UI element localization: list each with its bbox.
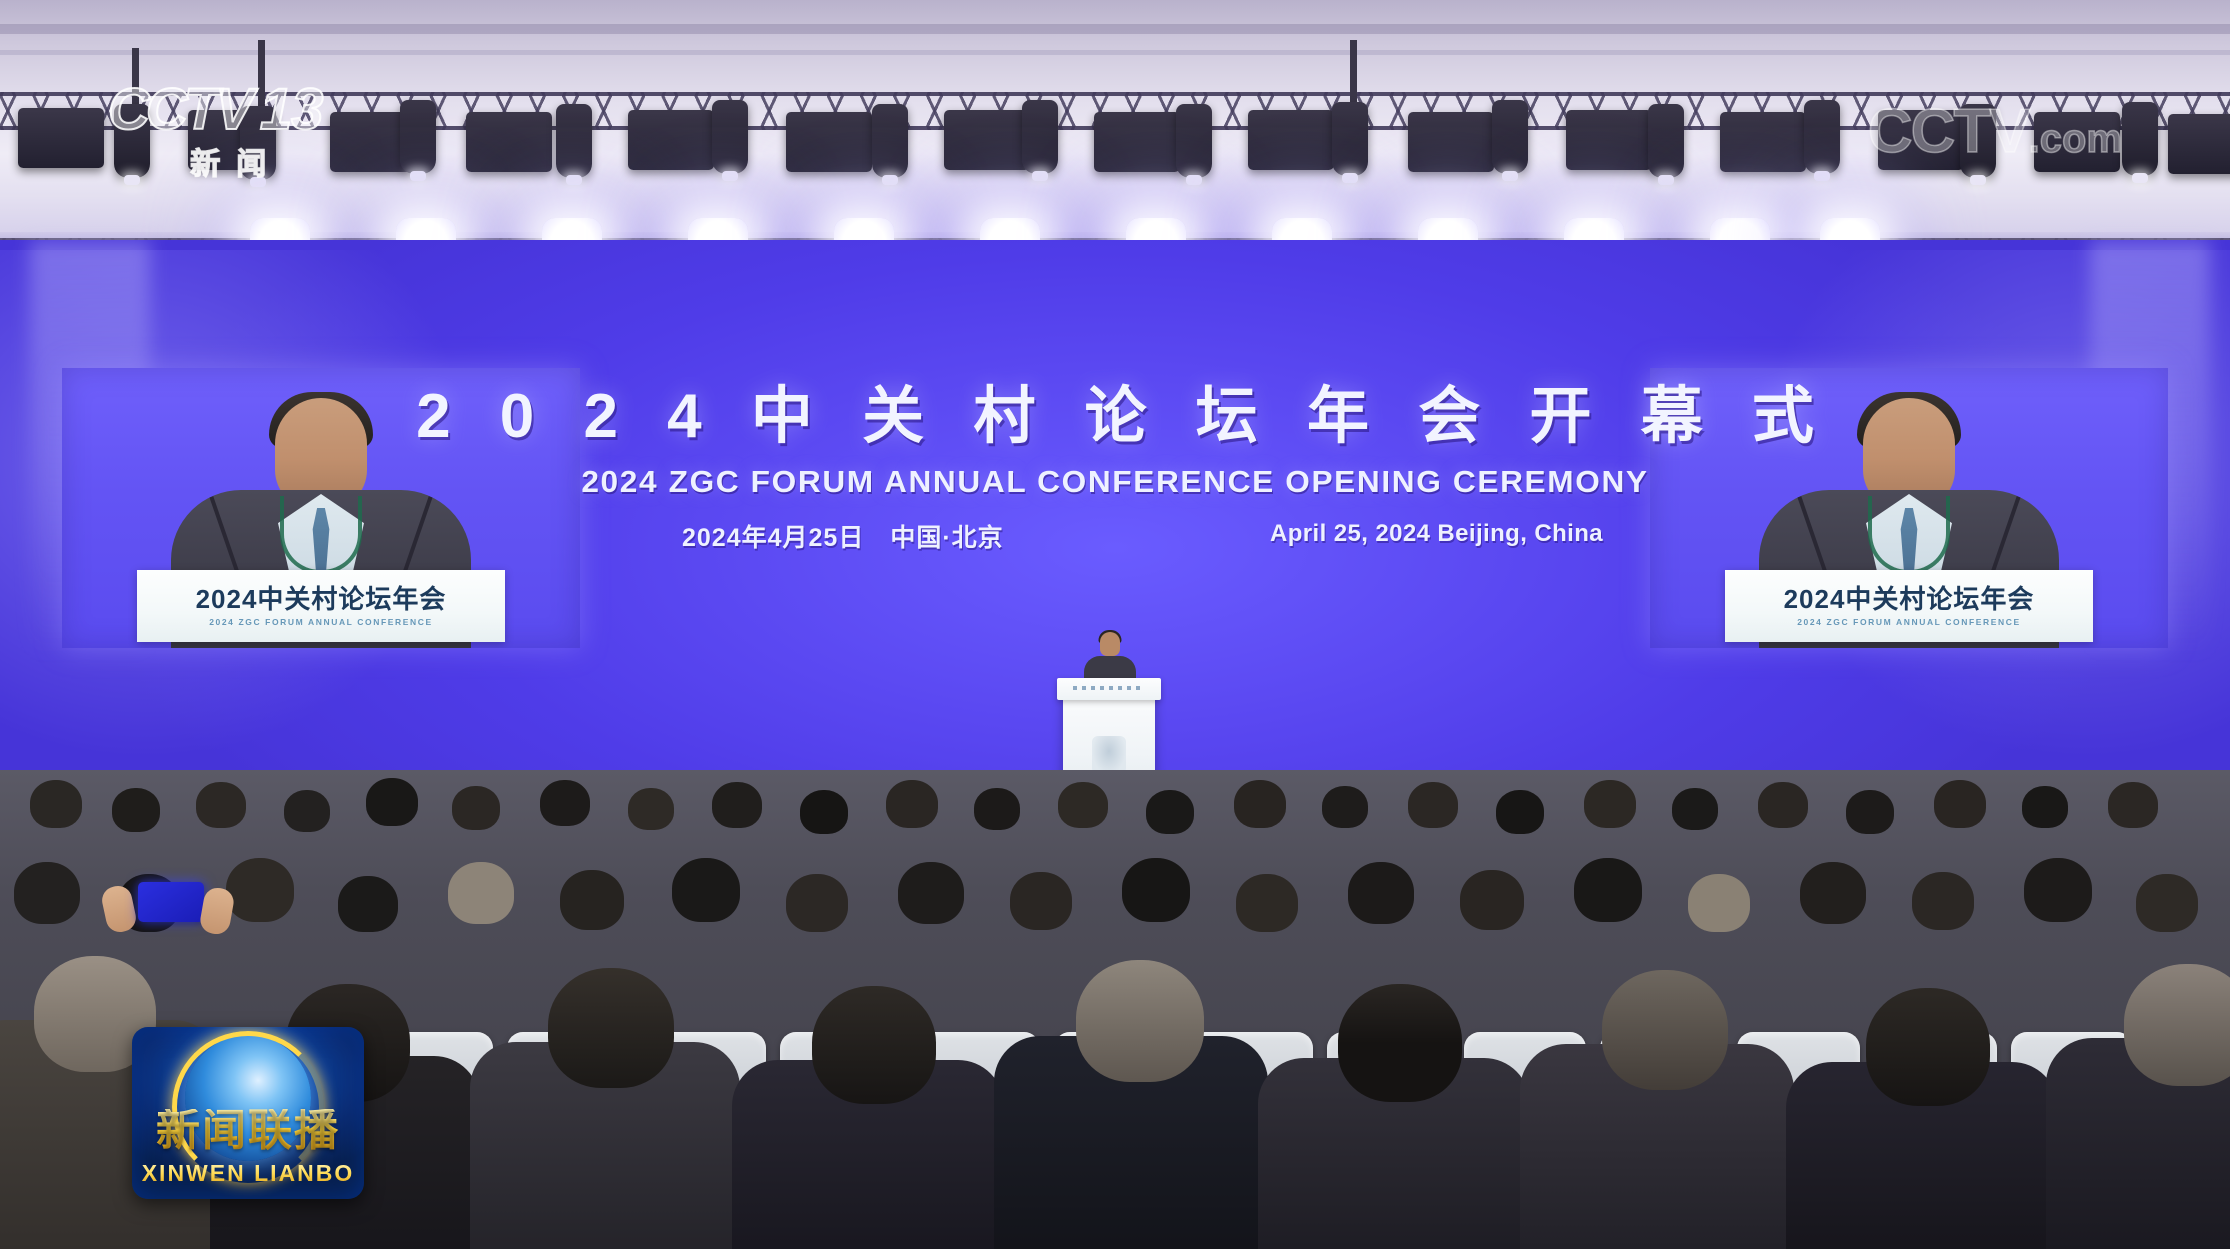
ceiling-stripe (0, 50, 2230, 55)
audience-head (448, 862, 514, 924)
audience-head (672, 858, 740, 922)
stage-light-fixture (1176, 104, 1212, 178)
podium-sign-en-text: 2024 ZGC FORUM ANNUAL CONFERENCE (209, 617, 433, 627)
channel-name-cn: 新闻 (108, 139, 322, 183)
audience-head (1496, 790, 1544, 834)
audience-head (2108, 782, 2158, 828)
stage-light-fixture (712, 100, 748, 174)
audience-head (1010, 872, 1072, 930)
audience-head (1672, 788, 1718, 830)
audience-head (540, 780, 590, 826)
channel-logo-cctv13: CCTV 13 新闻 (108, 82, 322, 183)
program-bug-xinwen-lianbo: 新闻联播 XINWEN LIANBO (132, 1027, 364, 1199)
audience-head (800, 790, 848, 834)
event-date-cn: 2024年4月25日 中国·北京 (682, 518, 1004, 554)
stage-light-fixture (944, 110, 1030, 170)
audience-head (2024, 858, 2092, 922)
event-date-row: 2024年4月25日 中国·北京 April 25, 2024 Beijing,… (0, 518, 2230, 552)
audience-head (1758, 782, 1808, 828)
mobile-phone (138, 882, 204, 922)
event-title-cn: 2 0 2 4 中 关 村 论 坛 年 会 开 幕 式 (0, 386, 2230, 448)
audience-head (1058, 782, 1108, 828)
audience-head (560, 870, 624, 930)
audience-head (786, 874, 848, 932)
audience-head (1122, 858, 1190, 922)
podium-nameplate (1057, 678, 1161, 700)
audience-head (14, 862, 80, 924)
stage-light-fixture (1492, 100, 1528, 174)
podium-sign-en-text: 2024 ZGC FORUM ANNUAL CONFERENCE (1797, 617, 2021, 627)
cctv-com-watermark: CCTV.com (1868, 96, 2122, 167)
stage-light-fixture (400, 100, 436, 174)
podium-sign-cn-text: 2024中关村论坛年会 (196, 586, 447, 612)
audience-head (1460, 870, 1524, 930)
stage-light-fixture (2168, 114, 2230, 174)
podium-emblem-icon (1092, 736, 1126, 774)
stage-light-fixture (1022, 100, 1058, 174)
audience-head (226, 858, 294, 922)
broadcast-frame: 2024中关村论坛年会 2024 ZGC FORUM ANNUAL CONFER… (0, 0, 2230, 1249)
audience-head (886, 780, 938, 828)
podium-sign: 2024中关村论坛年会 2024 ZGC FORUM ANNUAL CONFER… (137, 570, 505, 642)
audience-head (284, 790, 330, 832)
program-title-cn: 新闻联播 (132, 1109, 364, 1153)
audience-head (974, 788, 1020, 830)
stage-light-fixture (872, 104, 908, 178)
audience-head (1866, 988, 1990, 1106)
event-date-en: April 25, 2024 Beijing, China (1270, 520, 1603, 548)
audience-head (1574, 858, 1642, 922)
stage-light-fixture (1566, 110, 1652, 170)
audience-head (1146, 790, 1194, 834)
audience-head (1076, 960, 1204, 1082)
audience-head (812, 986, 936, 1104)
stage-light-fixture (786, 112, 872, 172)
program-title-en: XINWEN LIANBO (132, 1160, 364, 1187)
stage-light-fixture (1408, 112, 1494, 172)
audience-head (366, 778, 418, 826)
channel-number: 13 (260, 82, 323, 137)
audience-head (338, 876, 398, 932)
speaker-head (1100, 632, 1120, 656)
stage-light-fixture (1648, 104, 1684, 178)
backdrop-title-block: 2 0 2 4 中 关 村 论 坛 年 会 开 幕 式 2024 ZGC FOR… (0, 386, 2230, 552)
audience-head (712, 782, 762, 828)
stage-light-fixture (466, 112, 552, 172)
ceiling-stripe (0, 24, 2230, 34)
audience-head (2124, 964, 2230, 1086)
audience-head (1584, 780, 1636, 828)
audience-head (1348, 862, 1414, 924)
audience-head (1322, 786, 1368, 828)
stage-light-fixture (1332, 102, 1368, 176)
audience-head (1408, 782, 1458, 828)
audience-head (1688, 874, 1750, 932)
audience-head (898, 862, 964, 924)
audience-head (2136, 874, 2198, 932)
audience-head (1912, 872, 1974, 930)
podium-sign: 2024中关村论坛年会 2024 ZGC FORUM ANNUAL CONFER… (1725, 570, 2093, 642)
audience-head (1338, 984, 1462, 1102)
audience-head (112, 788, 160, 832)
cctv-com-text: CCTV (1868, 97, 2029, 166)
stage-light-fixture (1094, 112, 1180, 172)
audience-head (452, 786, 500, 830)
stage-light-fixture (1248, 110, 1334, 170)
audience-head (628, 788, 674, 830)
stage-light-fixture (1720, 112, 1806, 172)
audience-head (1234, 780, 1286, 828)
event-title-en: 2024 ZGC FORUM ANNUAL CONFERENCE OPENING… (0, 464, 2230, 500)
stage-light-fixture (2122, 102, 2158, 176)
audience-head (196, 782, 246, 828)
audience-head (1800, 862, 1866, 924)
audience-head (1846, 790, 1894, 834)
audience-head (1602, 970, 1728, 1090)
audience-head (30, 780, 82, 828)
podium-sign-cn-text: 2024中关村论坛年会 (1784, 586, 2035, 612)
stage-light-fixture (628, 110, 714, 170)
audience-head (548, 968, 674, 1088)
stage-light-fixture (556, 104, 592, 178)
stage-light-fixture (1804, 100, 1840, 174)
cctv-wordmark: CCTV (108, 82, 250, 137)
audience-head (2022, 786, 2068, 828)
cctv-com-suffix: .com (2029, 117, 2122, 161)
stage-light-fixture (18, 108, 104, 168)
lamp-yoke (1350, 40, 1357, 106)
audience-head (1934, 780, 1986, 828)
audience-head (1236, 874, 1298, 932)
